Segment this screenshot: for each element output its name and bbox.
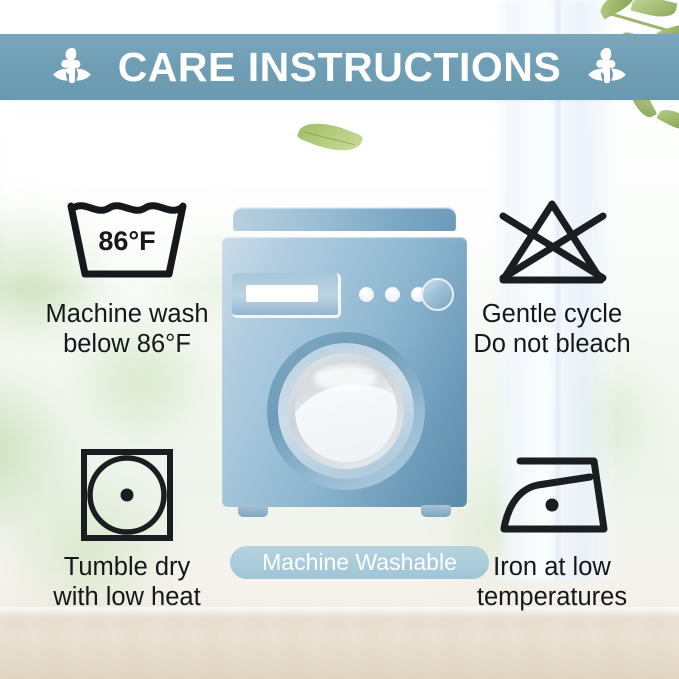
- tumble-dry-square-icon: [77, 445, 177, 545]
- iron-heat-dot: [546, 499, 559, 512]
- machine-washable-badge: Machine Washable: [230, 546, 489, 579]
- wash-tub-icon: 86°F: [61, 192, 193, 292]
- care-instructions-infographic: CARE INSTRUCTIONS 86°F Machine wash belo…: [0, 0, 679, 679]
- care-symbol-tumble-dry: Tumble dry with low heat: [12, 443, 242, 613]
- symbol-art: [12, 443, 242, 547]
- washer-door-outer-ring: [267, 332, 425, 490]
- washing-machine-illustration: [222, 207, 467, 527]
- control-display: [246, 285, 318, 302]
- detergent-drawer: [232, 273, 341, 318]
- header-banner: CARE INSTRUCTIONS: [0, 34, 679, 100]
- washer-door-highlight: [313, 365, 377, 391]
- control-dial[interactable]: [421, 278, 454, 311]
- symbol-caption: Tumble dry with low heat: [12, 553, 242, 613]
- washer-door-glass: [295, 360, 397, 462]
- symbol-caption: Gentle cycle Do not bleach: [437, 300, 667, 360]
- symbol-art: [437, 443, 667, 547]
- care-symbol-machine-wash: 86°F Machine wash below 86°F: [12, 190, 242, 360]
- tumble-dry-heat-dot: [121, 489, 134, 502]
- leaf-icon: [630, 0, 677, 21]
- control-button[interactable]: [359, 287, 374, 302]
- leaf-icon: [656, 105, 679, 134]
- control-button[interactable]: [385, 287, 400, 302]
- care-symbol-do-not-bleach: Gentle cycle Do not bleach: [437, 190, 667, 360]
- washer-foot: [421, 505, 451, 517]
- background-table-grain: [0, 607, 679, 679]
- badge-label: Machine Washable: [262, 551, 457, 574]
- control-button-row: [359, 287, 426, 302]
- washer-door-inner-ring: [288, 353, 404, 469]
- wash-temperature-value: 86°F: [98, 226, 155, 256]
- crossed-triangle-icon: [493, 194, 611, 290]
- washer-body: [222, 237, 467, 507]
- symbol-caption: Machine wash below 86°F: [12, 300, 242, 360]
- fleur-de-lis-icon: [579, 44, 635, 90]
- fleur-de-lis-icon: [44, 44, 100, 90]
- care-symbol-iron: Iron at low temperatures: [437, 443, 667, 613]
- symbol-art: 86°F: [12, 190, 242, 294]
- washer-top-lid: [233, 207, 456, 231]
- washer-foot: [238, 505, 268, 517]
- iron-icon: [490, 447, 614, 543]
- symbol-art: [437, 190, 667, 294]
- page-title: CARE INSTRUCTIONS: [118, 47, 562, 88]
- washer-door-mid-ring: [278, 343, 414, 479]
